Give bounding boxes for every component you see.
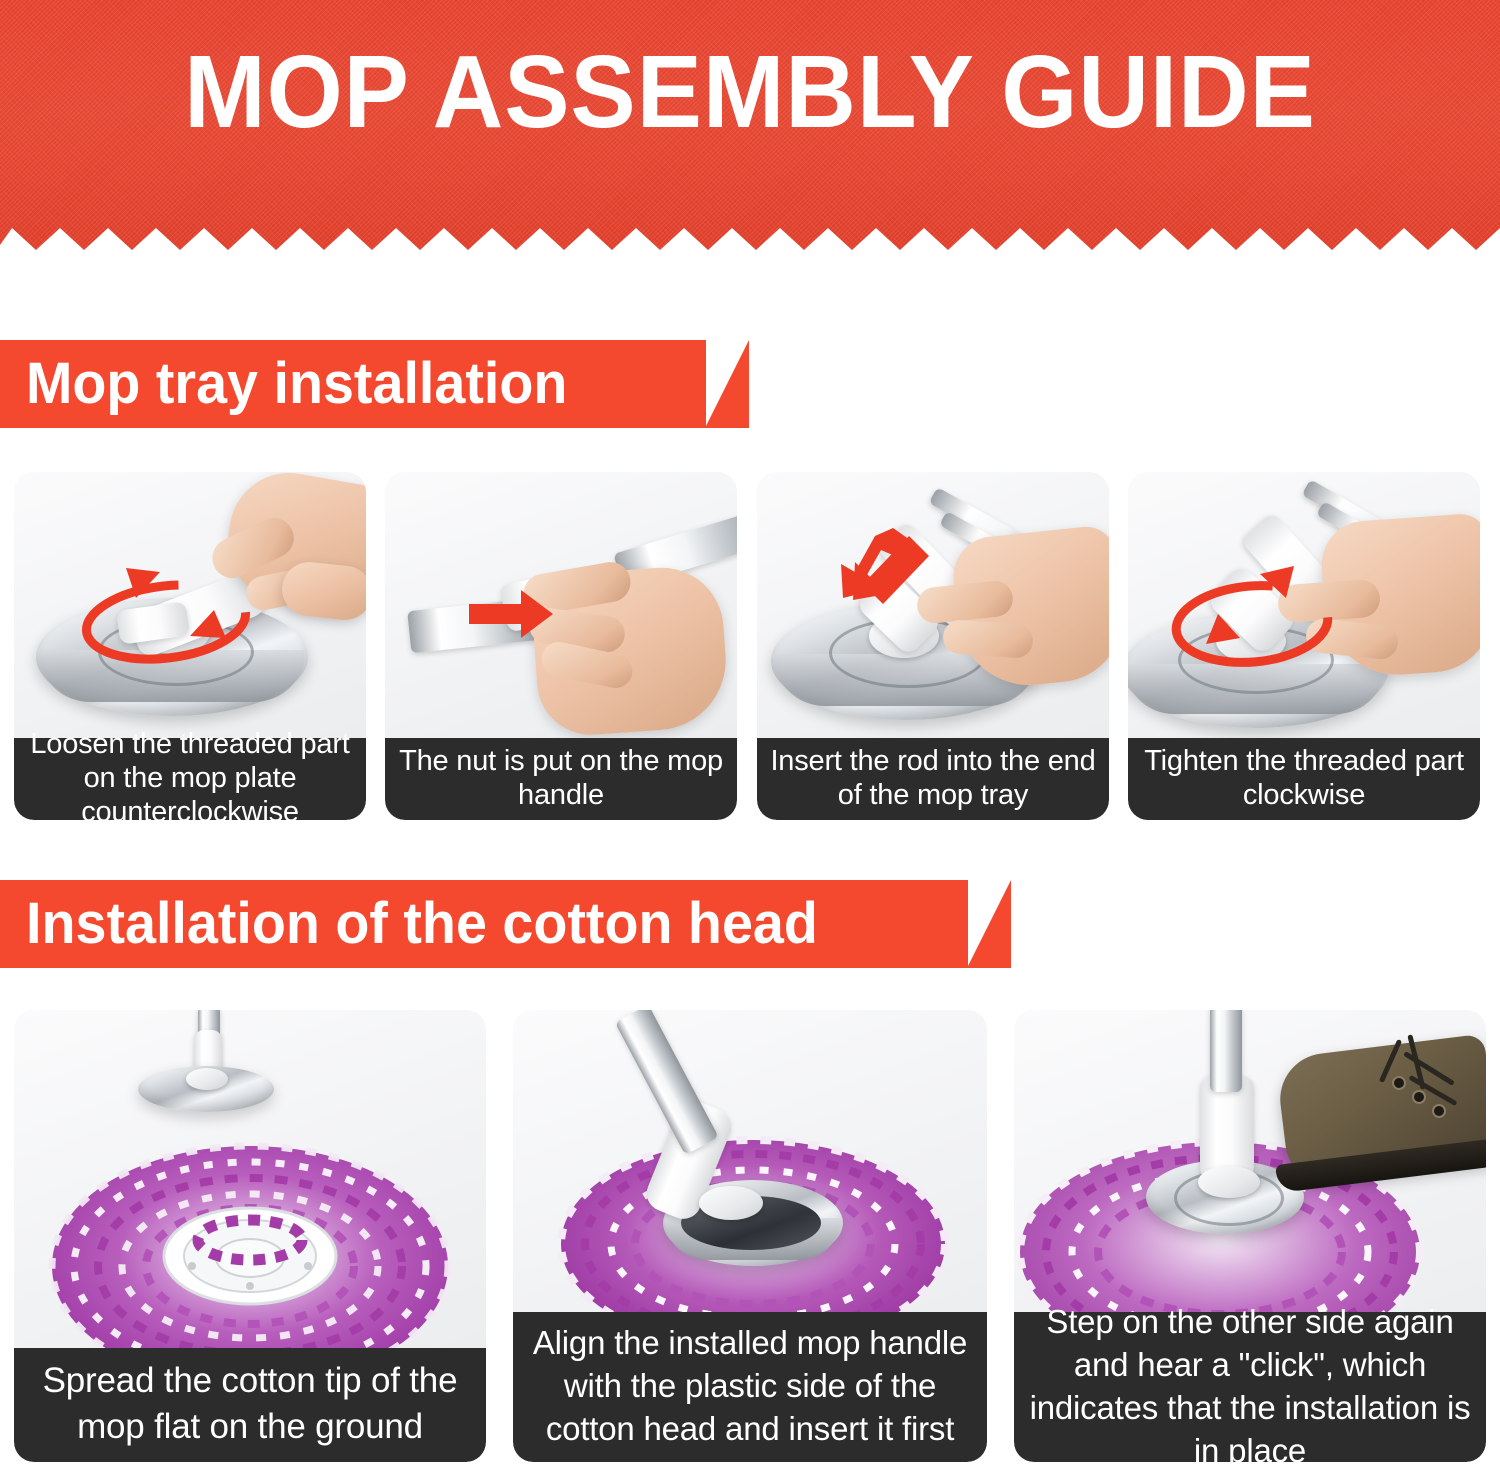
step-panel-tighten-threaded-part: Tighten the threaded part clockwise — [1128, 472, 1480, 820]
step-panel-loosen-threaded-part: Loosen the threaded part on the mop plat… — [14, 472, 366, 820]
section-heading-cotton-head-installation: Installation of the cotton head — [0, 880, 968, 968]
section-heading-mop-tray-installation: Mop tray installation — [0, 340, 706, 428]
step-caption: Step on the other side again and hear a … — [1014, 1312, 1486, 1462]
page-title: MOP ASSEMBLY GUIDE — [38, 38, 1463, 146]
section-heading-label: Mop tray installation — [26, 354, 567, 414]
step-panel-insert-rod: Insert the rod into the end of the mop t… — [757, 472, 1109, 820]
step-caption: The nut is put on the mop handle — [385, 738, 737, 820]
step-panel-nut-on-handle: The nut is put on the mop handle — [385, 472, 737, 820]
step-caption: Tighten the threaded part clockwise — [1128, 738, 1480, 820]
step-panel-step-and-click: Step on the other side again and hear a … — [1014, 1010, 1486, 1462]
header-banner: MOP ASSEMBLY GUIDE — [0, 0, 1500, 250]
step-caption: Align the installed mop handle with the … — [513, 1312, 987, 1462]
step-caption: Spread the cotton tip of the mop flat on… — [14, 1348, 486, 1462]
step-panel-align-handle-with-cotton-head: Align the installed mop handle with the … — [513, 1010, 987, 1462]
step-caption: Insert the rod into the end of the mop t… — [757, 738, 1109, 820]
step-panel-spread-cotton-tip: Spread the cotton tip of the mop flat on… — [14, 1010, 486, 1462]
step-caption: Loosen the threaded part on the mop plat… — [14, 738, 366, 820]
section-heading-label: Installation of the cotton head — [26, 894, 818, 954]
